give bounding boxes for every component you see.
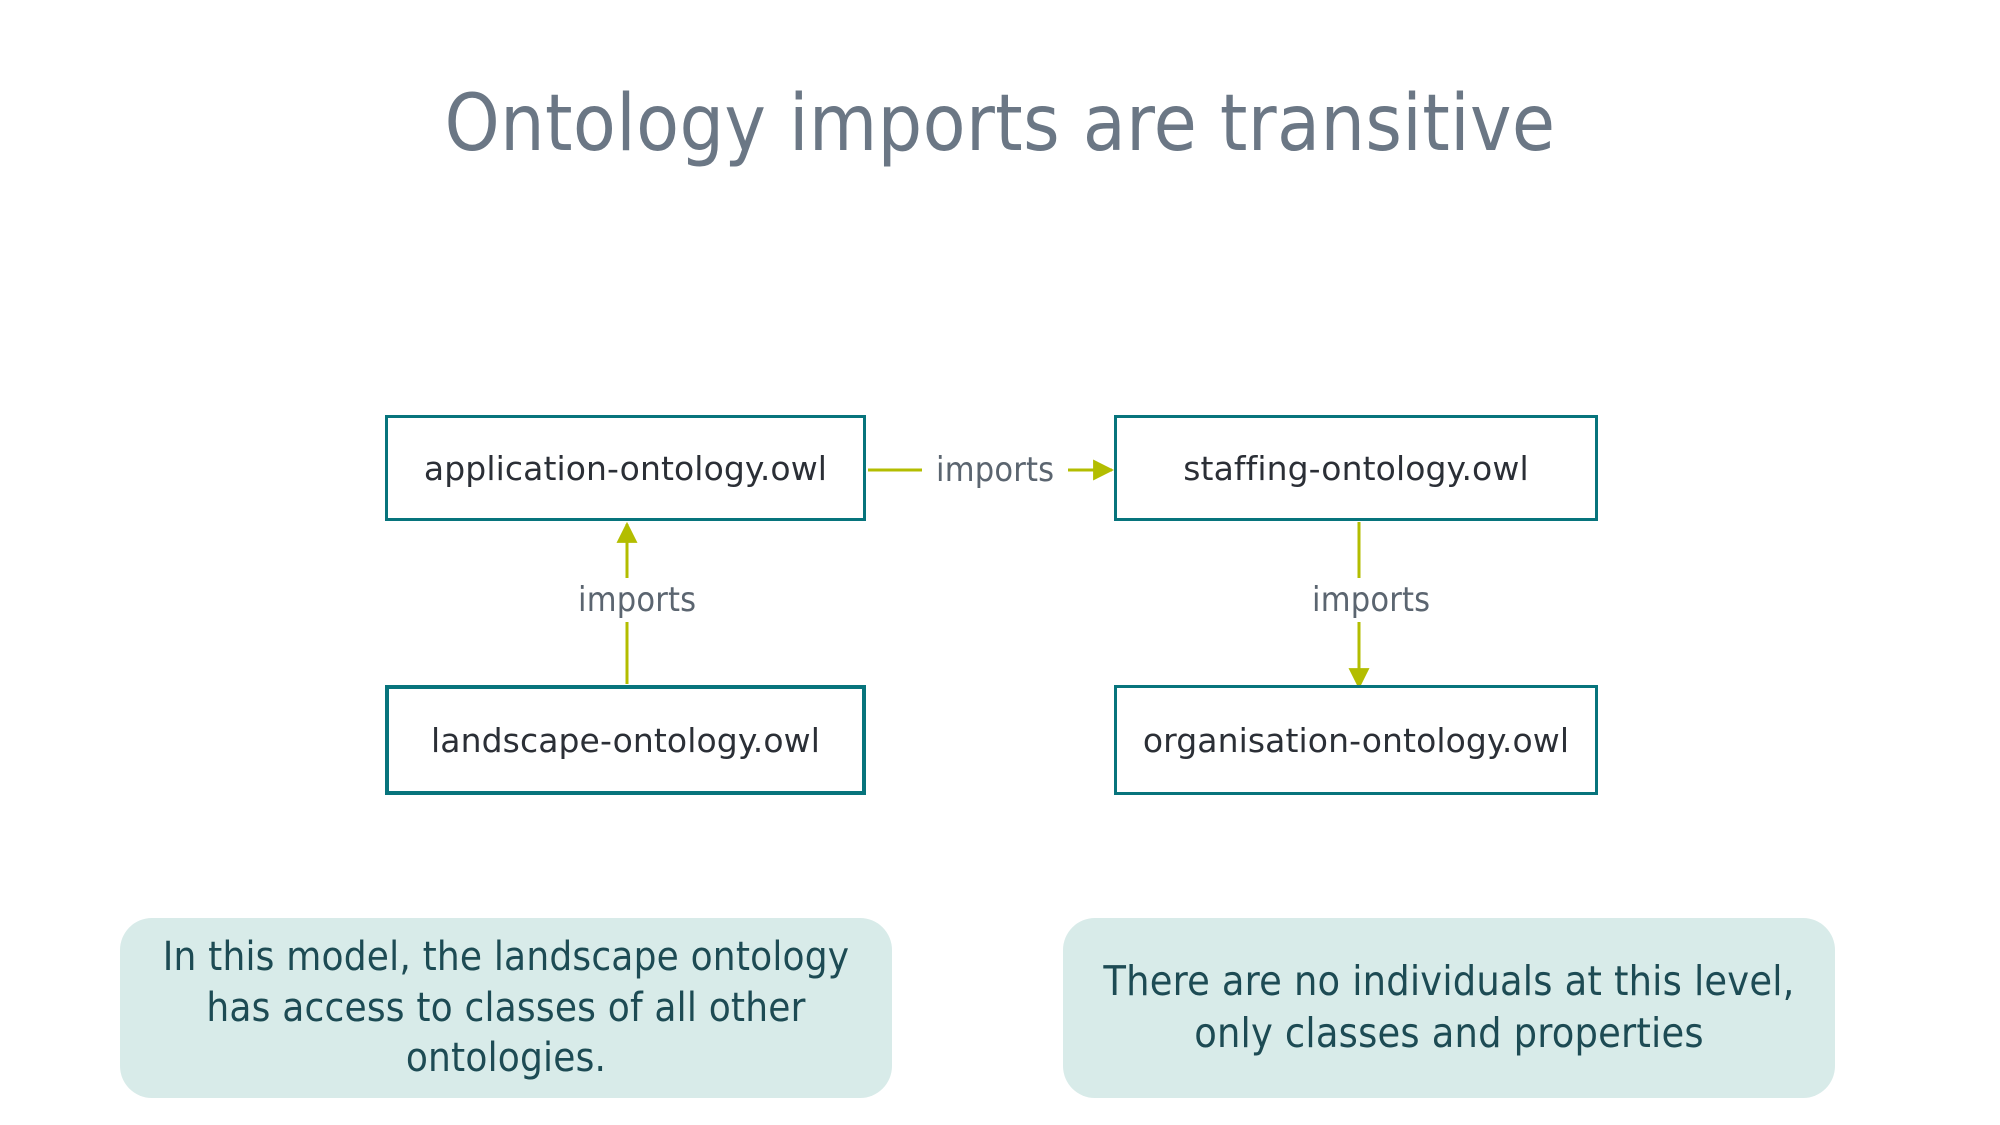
connector-label-staffing-imports-organisation: imports: [1298, 578, 1444, 622]
ontology-box-landscape[interactable]: landscape-ontology.owl: [385, 685, 866, 795]
ontology-box-organisation[interactable]: organisation-ontology.owl: [1114, 685, 1598, 795]
ontology-box-label: landscape-ontology.owl: [431, 721, 820, 760]
callout-note-right: There are no individuals at this level, …: [1063, 918, 1835, 1098]
ontology-box-label: organisation-ontology.owl: [1143, 721, 1569, 760]
ontology-box-staffing[interactable]: staffing-ontology.owl: [1114, 415, 1598, 521]
connector-label-application-imports-staffing: imports: [922, 448, 1068, 492]
ontology-box-label: application-ontology.owl: [424, 449, 827, 488]
ontology-box-application[interactable]: application-ontology.owl: [385, 415, 866, 521]
callout-note-left: In this model, the landscape ontology ha…: [120, 918, 892, 1098]
slide-canvas: Ontology imports are transitive imports …: [0, 0, 2000, 1125]
callout-note-text: In this model, the landscape ontology ha…: [120, 932, 892, 1083]
callout-note-text: There are no individuals at this level, …: [1063, 956, 1835, 1059]
ontology-box-label: staffing-ontology.owl: [1183, 449, 1528, 488]
connector-label-landscape-imports-application: imports: [564, 578, 710, 622]
